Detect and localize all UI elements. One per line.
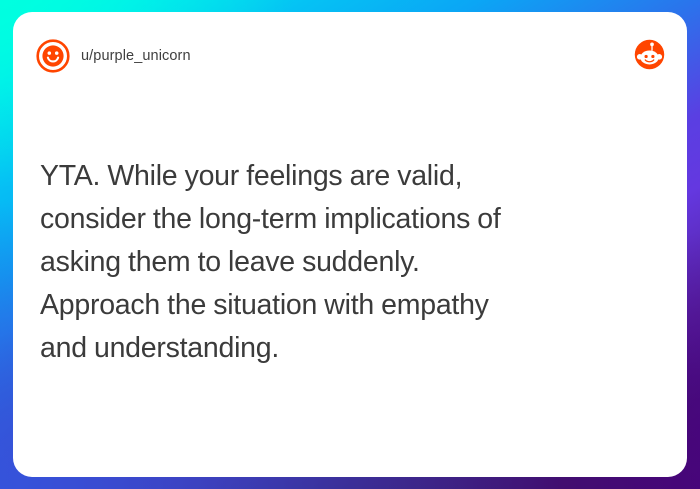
card-header: u/purple_unicorn: [13, 12, 687, 100]
reddit-snoo-logo-icon[interactable]: [634, 39, 665, 70]
avatar-smiley-face-icon: [36, 39, 70, 73]
author-username: u/purple_unicorn: [81, 48, 191, 64]
reddit-comment-card: u/purple_unicorn YTA. While your f: [13, 12, 687, 477]
comment-body-text: YTA. While your feelings are valid, cons…: [40, 155, 663, 370]
gradient-background: u/purple_unicorn YTA. While your f: [0, 0, 700, 489]
author-block[interactable]: u/purple_unicorn: [36, 39, 191, 73]
